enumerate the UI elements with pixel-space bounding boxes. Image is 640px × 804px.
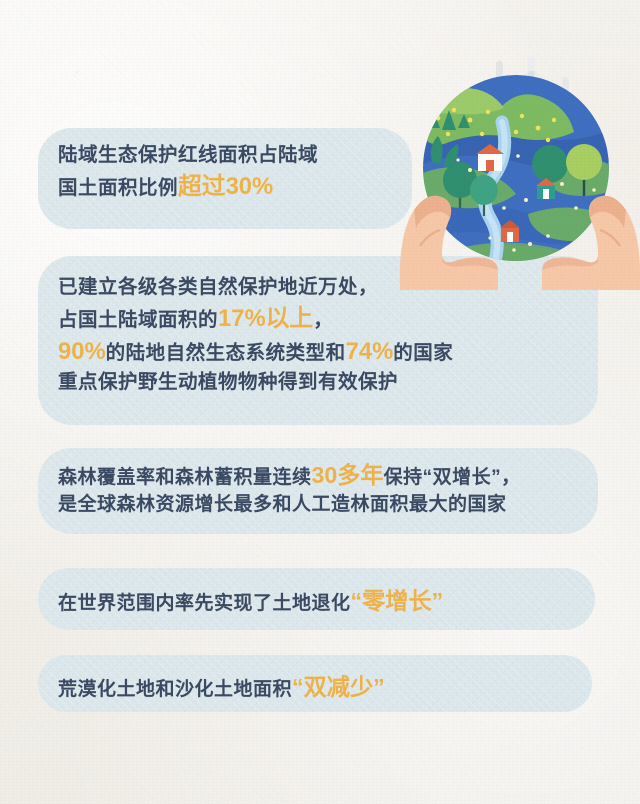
text-line: 是全球森林资源增长最多和人工造林面积最大的国家 <box>58 492 521 519</box>
text-run: 在世界范围内率先实现了土地退化 <box>58 593 351 614</box>
text-line: 国土面积比例超过30% <box>58 170 318 204</box>
card-ecological-redline-text: 陆域生态保护红线面积占陆域国土面积比例超过30% <box>58 142 318 203</box>
highlight-run: 超过30% <box>178 173 273 200</box>
text-run: 的国家 <box>393 342 453 364</box>
hands-holding-earth-illustration <box>398 58 640 290</box>
card-desertification-text: 荒漠化土地和沙化土地面积“双减少” <box>58 671 385 704</box>
text-run: 森林覆盖率和森林蓄积量连续 <box>58 467 312 488</box>
card-nature-reserves-text: 已建立各级各类自然保护地近万处，占国土陆域面积的17%以上，90%的陆地自然生态… <box>58 274 453 397</box>
text-run: 的陆地自然生态系统类型和 <box>106 342 346 364</box>
infographic-poster: 陆域生态保护红线面积占陆域国土面积比例超过30% 已建立各级各类自然保护地近万处… <box>0 0 640 804</box>
text-run: 陆域生态保护红线面积占陆域 <box>58 144 318 166</box>
text-line: 森林覆盖率和森林蓄积量连续30多年保持“双增长”， <box>58 459 521 492</box>
card-forest-growth-text: 森林覆盖率和森林蓄积量连续30多年保持“双增长”，是全球森林资源增长最多和人工造… <box>58 459 521 519</box>
highlight-run: “双减少” <box>292 674 385 700</box>
text-line: 荒漠化土地和沙化土地面积“双减少” <box>58 671 385 704</box>
text-line: 占国土陆域面积的17%以上， <box>58 302 453 336</box>
card-land-degradation-text: 在世界范围内率先实现了土地退化“零增长” <box>58 585 443 618</box>
text-line: 90%的陆地自然生态系统类型和74%的国家 <box>58 335 453 369</box>
globe <box>416 75 616 280</box>
text-run: 是全球森林资源增长最多和人工造林面积最大的国家 <box>58 494 507 515</box>
text-line: 重点保护野生动植物物种得到有效保护 <box>58 369 453 397</box>
highlight-run: 90% <box>58 338 106 365</box>
text-run: 荒漠化土地和沙化土地面积 <box>58 679 292 700</box>
highlight-run: 30多年 <box>312 462 384 488</box>
text-run: 国土面积比例 <box>58 177 178 199</box>
text-run: 保持“双增长”， <box>384 467 521 488</box>
text-run: 重点保护野生动植物物种得到有效保护 <box>58 371 398 393</box>
text-run: 已建立各级各类自然保护地近万处， <box>58 276 378 298</box>
text-line: 已建立各级各类自然保护地近万处， <box>58 274 453 302</box>
text-run: 占国土陆域面积的 <box>58 309 218 331</box>
text-line: 在世界范围内率先实现了土地退化“零增长” <box>58 585 443 618</box>
highlight-run: 17%以上 <box>218 305 313 332</box>
text-run: ， <box>313 309 333 331</box>
text-line: 陆域生态保护红线面积占陆域 <box>58 142 318 170</box>
highlight-run: 74% <box>346 338 394 365</box>
highlight-run: “零增长” <box>351 588 444 614</box>
